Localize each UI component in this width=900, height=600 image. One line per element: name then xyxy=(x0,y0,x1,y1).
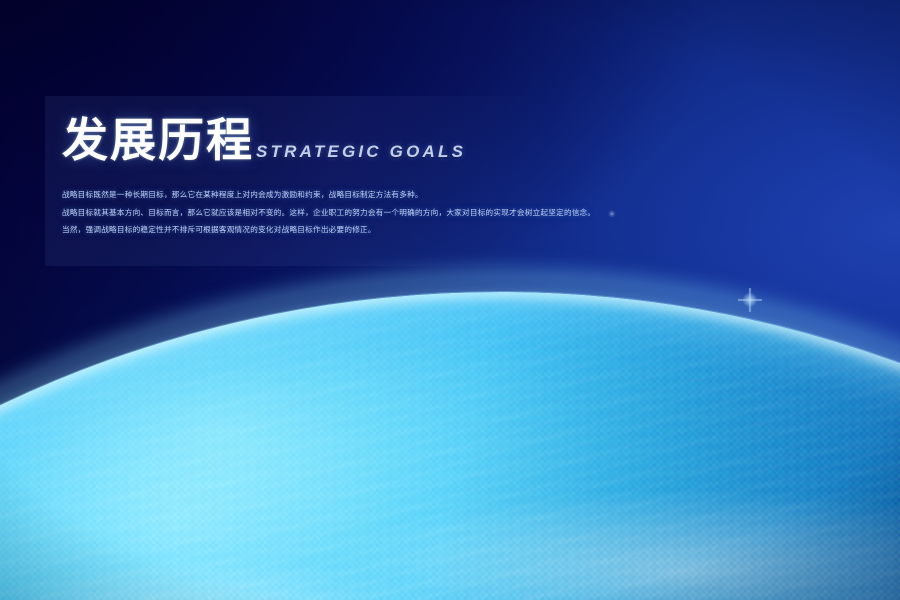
page-title: 发展历程 xyxy=(62,118,254,164)
body-line-1: 战略目标既然是一种长期目标，那么它在某种程度上对内会成为激励和约束，战略目标制定… xyxy=(62,186,532,204)
banner-content: 发展历程 STRATEGIC GOALS 战略目标既然是一种长期目标，那么它在某… xyxy=(62,108,532,239)
vignette-overlay xyxy=(0,0,900,600)
body-copy: 战略目标既然是一种长期目标，那么它在某种程度上对内会成为激励和约束，战略目标制定… xyxy=(62,186,532,239)
page-subtitle: STRATEGIC GOALS xyxy=(256,143,466,164)
body-line-3: 当然，强调战略目标的稳定性并不排斥可根据客观情况的变化对战略目标作出必要的修正。 xyxy=(62,221,532,239)
hero-banner: 发展历程 STRATEGIC GOALS 战略目标既然是一种长期目标，那么它在某… xyxy=(0,0,900,600)
body-line-2: 战略目标就其基本方向、目标而言，那么它就应该是相对不变的。这样，企业职工的努力会… xyxy=(62,204,532,222)
title-row: 发展历程 STRATEGIC GOALS xyxy=(62,108,532,164)
